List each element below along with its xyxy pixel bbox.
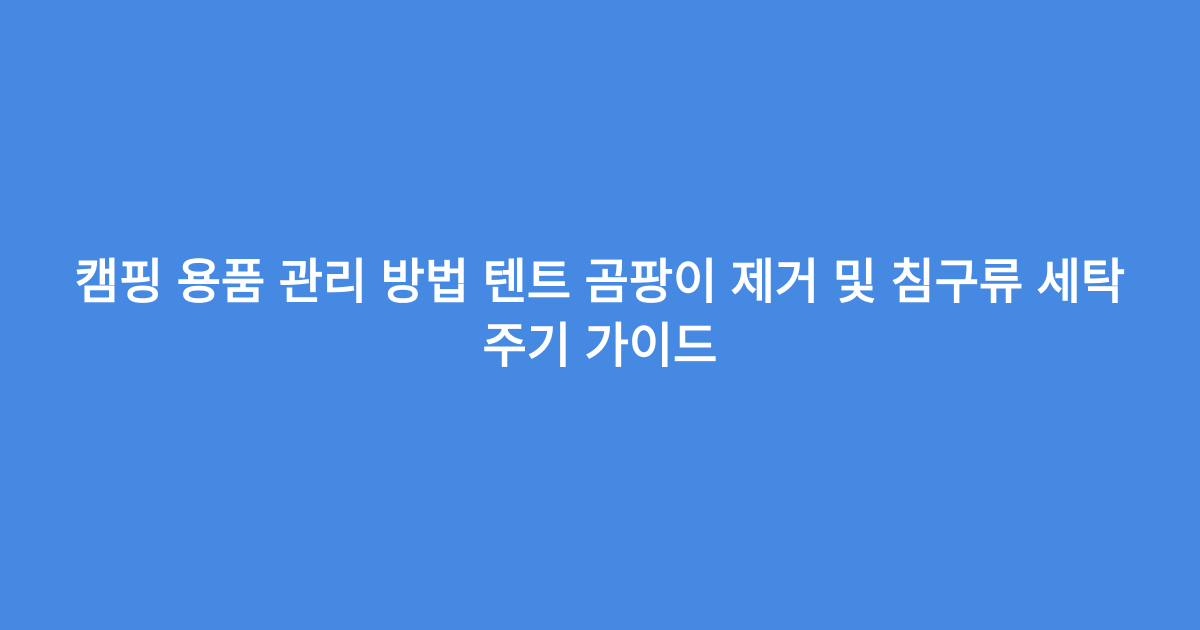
page-title: 캠핑 용품 관리 방법 텐트 곰팡이 제거 및 침구류 세탁 주기 가이드 xyxy=(70,251,1130,379)
share-card-content: 캠핑 용품 관리 방법 텐트 곰팡이 제거 및 침구류 세탁 주기 가이드 xyxy=(70,251,1130,379)
share-card: 캠핑 용품 관리 방법 텐트 곰팡이 제거 및 침구류 세탁 주기 가이드 xyxy=(0,0,1200,630)
